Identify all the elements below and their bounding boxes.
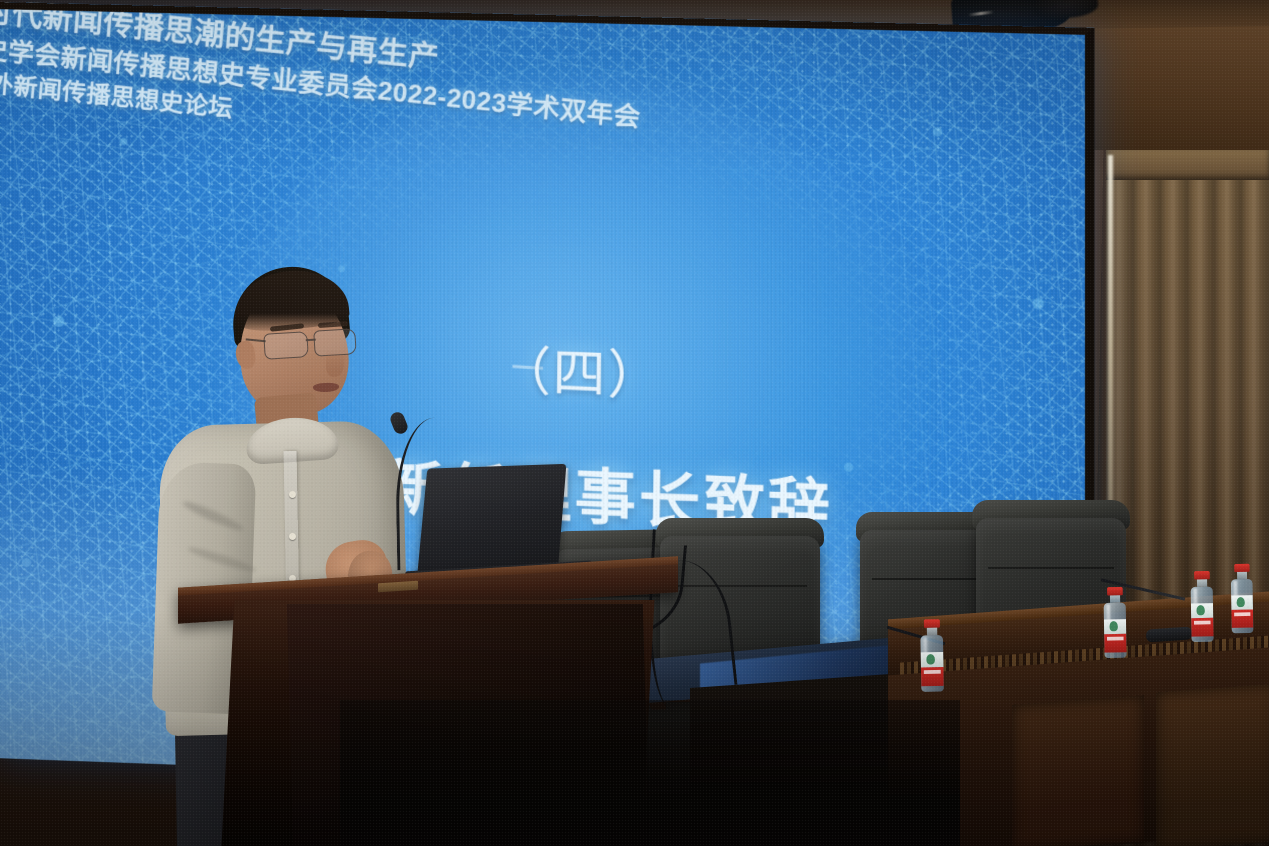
chair-seam xyxy=(988,567,1114,569)
conference-table-panel-2 xyxy=(1156,684,1269,846)
curtain-header-rail xyxy=(1106,150,1269,180)
bottle-label-green-mark xyxy=(926,654,935,664)
speaker-nose xyxy=(326,351,344,377)
water-bottle-3 xyxy=(1190,571,1213,642)
bottle-label-green-mark xyxy=(1196,605,1204,615)
conference-table-panel-1 xyxy=(1012,695,1144,846)
bottle-cap-icon xyxy=(1194,571,1210,580)
bottle-cap-icon xyxy=(923,619,939,628)
bottle-body xyxy=(1191,587,1214,643)
shirt-button-1 xyxy=(289,491,296,498)
eyeglasses-lens-left xyxy=(263,331,309,360)
bottle-cap-icon xyxy=(1234,564,1249,572)
foreground-shadow xyxy=(340,700,960,846)
shirt-button-2 xyxy=(289,533,296,540)
bottle-body xyxy=(1231,579,1254,633)
photo-canvas: 时代新闻传播思潮的生产与再生产 新闻史学会新闻传播思想史专业委员会2022-20… xyxy=(0,0,1269,846)
bottle-label-text-bar xyxy=(1107,637,1124,641)
water-bottle-2 xyxy=(1103,587,1126,658)
bottle-body xyxy=(920,635,944,692)
bottle-label-text-bar xyxy=(1194,621,1211,625)
bottle-label-green-mark xyxy=(1109,621,1117,631)
water-bottle-1 xyxy=(920,619,944,692)
bottle-label-text-bar xyxy=(1234,612,1250,616)
slide-section-number: （四） xyxy=(498,328,663,410)
bottle-label-text-bar xyxy=(924,670,941,674)
bottle-body xyxy=(1104,603,1127,659)
water-bottle-4 xyxy=(1231,564,1254,634)
bottle-cap-icon xyxy=(1107,587,1123,596)
bottle-label-green-mark xyxy=(1237,597,1245,607)
